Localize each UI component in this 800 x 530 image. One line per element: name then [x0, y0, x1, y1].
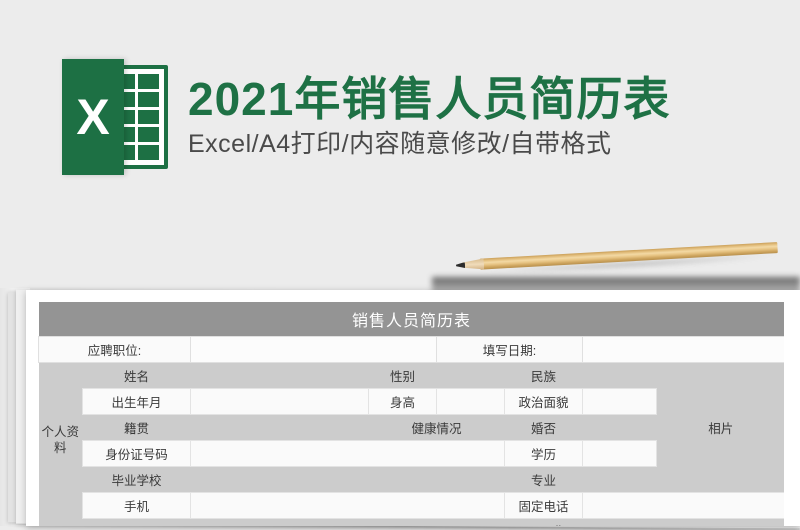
- height-label: 身高: [369, 389, 437, 415]
- birthdate-input[interactable]: [191, 389, 369, 415]
- pencil-icon: [455, 234, 778, 278]
- ethnicity-label: 民族: [505, 363, 583, 389]
- native-place-label: 籍贯: [83, 415, 191, 441]
- table-title-row: 销售人员简历表: [39, 302, 785, 337]
- political-status-label: 政治面貌: [505, 389, 583, 415]
- section-label-personal-info-continued: [39, 519, 83, 527]
- pencil-body: [480, 242, 778, 270]
- banner-text-block: 2021年销售人员简历表 Excel/A4打印/内容随意修改/自带格式: [188, 75, 670, 159]
- table-row: 现居住址 E-Mail: [39, 519, 785, 527]
- table-row: 应聘职位: 填写日期:: [39, 337, 785, 363]
- applied-position-input[interactable]: [191, 337, 437, 363]
- table-row: 手机 固定电话: [39, 493, 785, 519]
- fill-date-label: 填写日期:: [437, 337, 583, 363]
- email-label: E-Mail: [505, 519, 583, 527]
- graduate-school-label: 毕业学校: [83, 467, 191, 493]
- banner-title: 2021年销售人员简历表: [188, 75, 670, 123]
- excel-logo: X: [62, 59, 170, 175]
- current-address-input[interactable]: [191, 519, 505, 527]
- id-number-input[interactable]: [191, 441, 505, 467]
- marital-status-input[interactable]: [583, 415, 657, 441]
- landline-phone-label: 固定电话: [505, 493, 583, 519]
- major-input[interactable]: [583, 467, 657, 493]
- id-number-label: 身份证号码: [83, 441, 191, 467]
- height-input[interactable]: [437, 389, 505, 415]
- applied-position-label: 应聘职位:: [39, 337, 191, 363]
- current-address-label: 现居住址: [83, 519, 191, 527]
- native-place-input[interactable]: [191, 415, 369, 441]
- marital-status-label: 婚否: [505, 415, 583, 441]
- ethnicity-input[interactable]: [583, 363, 657, 389]
- pencil-wood-cone: [462, 258, 485, 270]
- name-input[interactable]: [191, 363, 369, 389]
- political-status-input[interactable]: [583, 389, 657, 415]
- banner-subtitle: Excel/A4打印/内容随意修改/自带格式: [188, 129, 670, 159]
- spreadsheet: 销售人员简历表 应聘职位: 填写日期: 个人资料 姓名 性别 民族 相片 出生年…: [38, 302, 784, 526]
- promo-banner: X 2021年销售人员简历表 Excel/A4打印/内容随意修改/自带格式: [0, 42, 800, 192]
- table-title: 销售人员简历表: [39, 302, 785, 337]
- graduate-school-input[interactable]: [191, 467, 505, 493]
- health-status-label: 健康情况: [369, 415, 505, 441]
- birthdate-label: 出生年月: [83, 389, 191, 415]
- education-input[interactable]: [583, 441, 657, 467]
- table-row: 个人资料 姓名 性别 民族 相片: [39, 363, 785, 389]
- landline-phone-input[interactable]: [583, 493, 785, 519]
- pencil-graphite-tip: [456, 262, 465, 268]
- education-label: 学历: [505, 441, 583, 467]
- excel-logo-letter: X: [76, 92, 109, 142]
- email-input[interactable]: [583, 519, 785, 527]
- mobile-phone-input[interactable]: [191, 493, 505, 519]
- section-label-personal-info: 个人资料: [39, 363, 83, 519]
- fill-date-input[interactable]: [583, 337, 785, 363]
- gender-input[interactable]: [437, 363, 505, 389]
- name-label: 姓名: [83, 363, 191, 389]
- pencil-shadow: [482, 254, 778, 278]
- mobile-phone-label: 手机: [83, 493, 191, 519]
- gender-label: 性别: [369, 363, 437, 389]
- resume-table: 销售人员简历表 应聘职位: 填写日期: 个人资料 姓名 性别 民族 相片 出生年…: [38, 302, 784, 526]
- excel-logo-panel: X: [62, 59, 124, 175]
- photo-placeholder[interactable]: 相片: [657, 363, 785, 493]
- major-label: 专业: [505, 467, 583, 493]
